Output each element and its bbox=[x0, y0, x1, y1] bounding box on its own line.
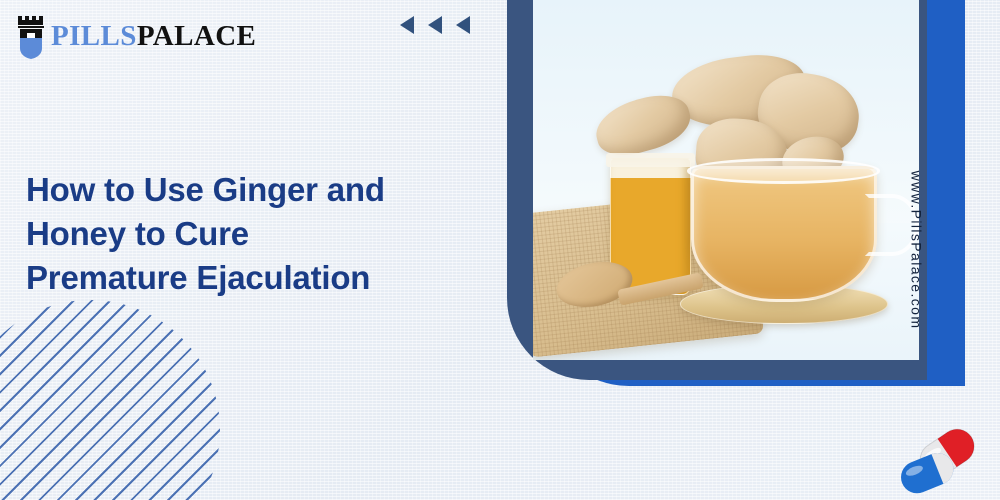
headline-strong-1: Ginger and bbox=[213, 171, 385, 208]
brand-logo[interactable]: PILLSPALACE bbox=[14, 13, 256, 59]
honey-jar-lid bbox=[606, 153, 695, 167]
headline-lede: How to Use bbox=[26, 171, 213, 208]
arrow-group bbox=[400, 16, 470, 34]
promo-banner: PILLSPALACE How to Use Ginger and Honey … bbox=[0, 0, 1000, 500]
brand-name: PILLSPALACE bbox=[51, 22, 256, 51]
triangle-left-icon bbox=[428, 16, 442, 34]
triangle-left-icon bbox=[456, 16, 470, 34]
tea-cup-rim bbox=[687, 158, 880, 183]
ginger-honey-tea-photo bbox=[533, 0, 919, 360]
two-capsule-pills-icon bbox=[896, 416, 992, 496]
photo-scene bbox=[533, 0, 919, 360]
hero-image-frame bbox=[505, 0, 965, 400]
diagonal-stripes-quarter-circle-icon bbox=[0, 300, 220, 500]
tea-cup bbox=[691, 166, 876, 303]
triangle-left-icon bbox=[400, 16, 414, 34]
page-title: How to Use Ginger and Honey to Cure Prem… bbox=[26, 168, 466, 300]
brand-name-part-2: PALACE bbox=[137, 20, 256, 52]
headline-strong-3: Premature Ejaculation bbox=[26, 259, 370, 296]
website-url[interactable]: www.PillsPalace.com bbox=[909, 171, 925, 330]
castle-shield-icon bbox=[14, 13, 48, 59]
headline-strong-2: Honey to Cure bbox=[26, 215, 249, 252]
brand-name-part-1: PILLS bbox=[51, 20, 137, 52]
